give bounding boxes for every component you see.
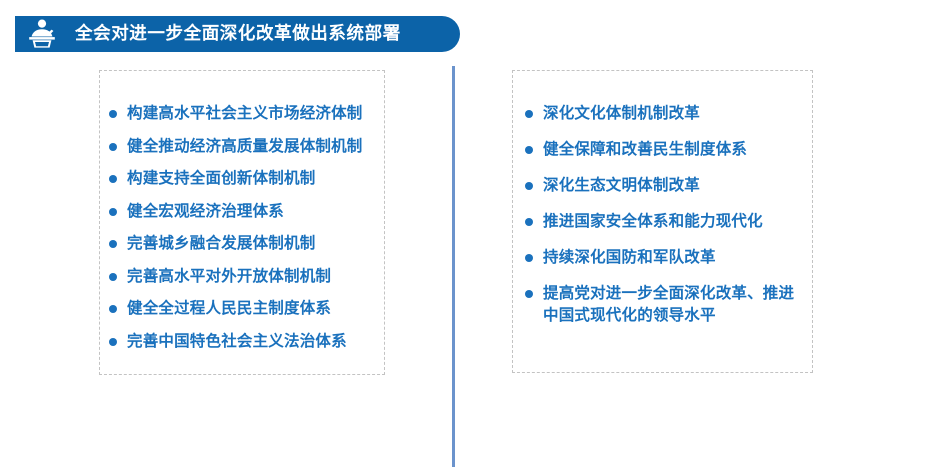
list-item-label: 深化生态文明体制改革	[543, 175, 700, 197]
bullet-dot-icon	[109, 273, 117, 281]
list-item: 健全保障和改善民生制度体系	[525, 139, 812, 161]
list-item-label: 健全推动经济高质量发展体制机制	[127, 136, 363, 158]
list-item: 健全推动经济高质量发展体制机制	[109, 136, 384, 158]
list-item: 构建支持全面创新体制机制	[109, 168, 384, 190]
list-item-label: 健全宏观经济治理体系	[127, 201, 284, 223]
bullet-dot-icon	[525, 182, 533, 190]
list-item-label: 健全全过程人民民主制度体系	[127, 298, 331, 320]
column-divider	[452, 66, 455, 467]
list-item: 深化生态文明体制改革	[525, 175, 812, 197]
bullet-dot-icon	[109, 240, 117, 248]
page-title: 全会对进一步全面深化改革做出系统部署	[69, 25, 401, 43]
bullet-dot-icon	[109, 338, 117, 346]
podium-speaker-icon	[15, 16, 69, 52]
header-banner: 全会对进一步全面深化改革做出系统部署	[15, 16, 460, 52]
bullet-dot-icon	[109, 208, 117, 216]
list-item: 提高党对进一步全面深化改革、推进 中国式现代化的领导水平	[525, 283, 812, 327]
list-item: 健全宏观经济治理体系	[109, 201, 384, 223]
list-item-label: 构建高水平社会主义市场经济体制	[127, 103, 363, 125]
list-item-label: 完善城乡融合发展体制机制	[127, 233, 315, 255]
right-bullet-list: 深化文化体制机制改革 健全保障和改善民生制度体系 深化生态文明体制改革 推进国家…	[513, 103, 812, 327]
list-item-label: 提高党对进一步全面深化改革、推进 中国式现代化的领导水平	[543, 283, 794, 327]
bullet-dot-icon	[525, 254, 533, 262]
bullet-dot-icon	[109, 143, 117, 151]
list-item: 持续深化国防和军队改革	[525, 247, 812, 269]
list-item-label: 深化文化体制机制改革	[543, 103, 700, 125]
slide-canvas: 全会对进一步全面深化改革做出系统部署 构建高水平社会主义市场经济体制 健全推动经…	[0, 0, 930, 467]
left-bullet-list: 构建高水平社会主义市场经济体制 健全推动经济高质量发展体制机制 构建支持全面创新…	[100, 103, 384, 353]
list-item: 推进国家安全体系和能力现代化	[525, 211, 812, 233]
list-item-label: 构建支持全面创新体制机制	[127, 168, 315, 190]
list-item: 健全全过程人民民主制度体系	[109, 298, 384, 320]
bullet-dot-icon	[109, 110, 117, 118]
list-item: 构建高水平社会主义市场经济体制	[109, 103, 384, 125]
list-item-label: 健全保障和改善民生制度体系	[543, 139, 747, 161]
bullet-dot-icon	[109, 175, 117, 183]
list-item: 完善城乡融合发展体制机制	[109, 233, 384, 255]
list-item: 深化文化体制机制改革	[525, 103, 812, 125]
list-item-label: 持续深化国防和军队改革	[543, 247, 716, 269]
left-content-panel: 构建高水平社会主义市场经济体制 健全推动经济高质量发展体制机制 构建支持全面创新…	[99, 70, 385, 375]
list-item: 完善高水平对外开放体制机制	[109, 266, 384, 288]
list-item-label: 完善中国特色社会主义法治体系	[127, 331, 347, 353]
bullet-dot-icon	[525, 218, 533, 226]
bullet-dot-icon	[525, 110, 533, 118]
bullet-dot-icon	[109, 305, 117, 313]
list-item-label: 完善高水平对外开放体制机制	[127, 266, 331, 288]
right-content-panel: 深化文化体制机制改革 健全保障和改善民生制度体系 深化生态文明体制改革 推进国家…	[512, 70, 813, 373]
bullet-dot-icon	[525, 146, 533, 154]
bullet-dot-icon	[525, 290, 533, 298]
list-item: 完善中国特色社会主义法治体系	[109, 331, 384, 353]
list-item-label: 推进国家安全体系和能力现代化	[543, 211, 763, 233]
